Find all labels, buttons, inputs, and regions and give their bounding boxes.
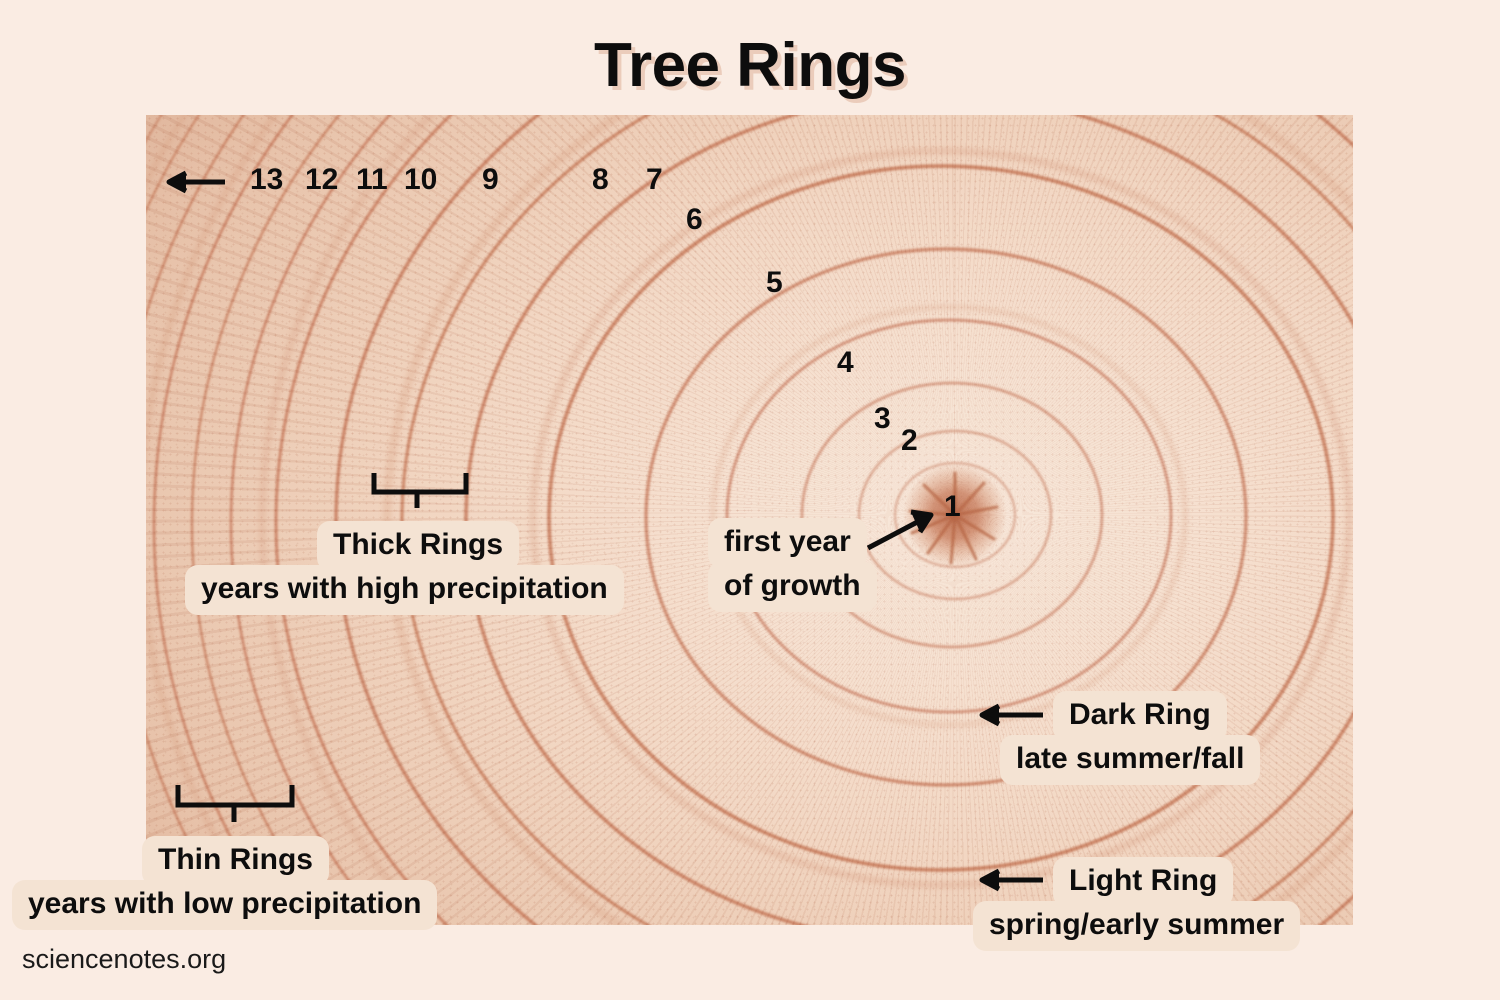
- ring-number-12: 12: [305, 165, 338, 195]
- callout-thick-rings-line2: years with high precipitation: [185, 565, 624, 615]
- callout-dark-ring-line1: Dark Ring: [1053, 691, 1227, 741]
- ring-number-3: 3: [874, 404, 891, 434]
- tree-rings-infographic: Tree Rings: [0, 0, 1500, 1000]
- callout-light-ring-line2: spring/early summer: [973, 901, 1300, 951]
- ring-number-9: 9: [482, 165, 499, 195]
- source-credit: sciencenotes.org: [22, 944, 226, 975]
- callout-thick-rings-line1: Thick Rings: [317, 521, 519, 571]
- ring-number-4: 4: [837, 348, 854, 378]
- ring-number-6: 6: [686, 205, 703, 235]
- page-title: Tree Rings: [0, 30, 1500, 101]
- callout-first-year-line1: first year: [708, 518, 867, 568]
- ring-number-5: 5: [766, 268, 783, 298]
- ring-number-8: 8: [592, 165, 609, 195]
- ring-number-13: 13: [250, 165, 283, 195]
- callout-light-ring-line1: Light Ring: [1053, 857, 1233, 907]
- callout-dark-ring-line2: late summer/fall: [1000, 735, 1260, 785]
- ring-number-7: 7: [646, 165, 663, 195]
- callout-first-year-line2: of growth: [708, 562, 877, 612]
- ring-number-11: 11: [356, 165, 388, 195]
- ring-number-10: 10: [404, 165, 437, 195]
- ring-number-1: 1: [944, 492, 961, 522]
- ring-number-2: 2: [901, 426, 918, 456]
- callout-thin-rings-line2: years with low precipitation: [12, 880, 437, 930]
- callout-thin-rings-line1: Thin Rings: [142, 836, 329, 886]
